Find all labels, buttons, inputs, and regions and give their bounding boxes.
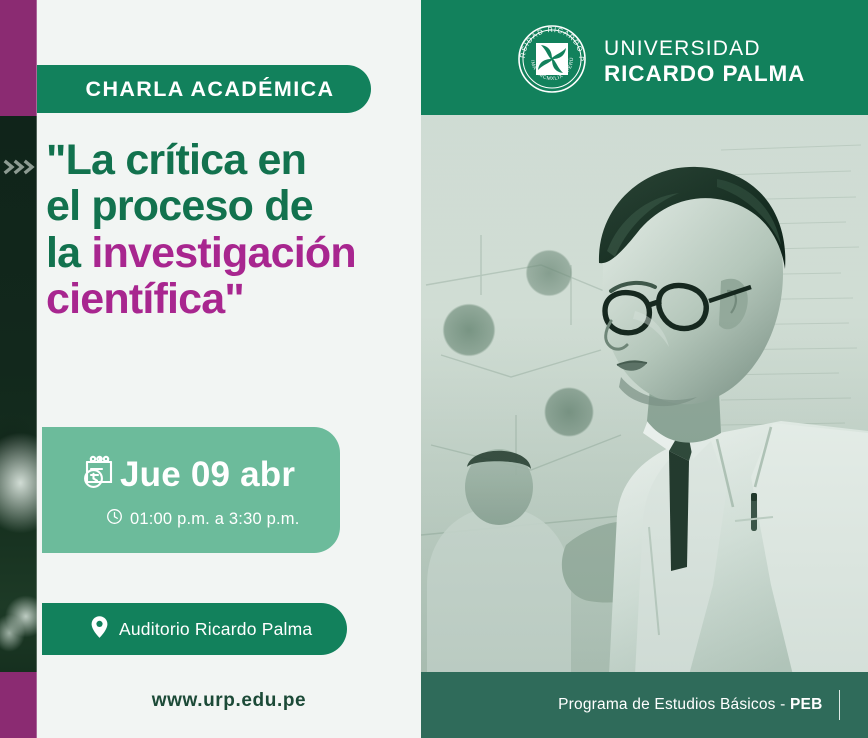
location-pin-icon (90, 615, 109, 644)
university-header-band: UNIVERSIDAD RICARDO PALMA LIMA - MCMXLIX… (421, 0, 868, 115)
university-seal-icon: UNIVERSIDAD RICARDO PALMA LIMA - MCMXLIX… (516, 23, 588, 100)
clock-icon (106, 508, 123, 530)
edge-accent-bottom (0, 672, 37, 738)
university-name-line-2: RICARDO PALMA (604, 61, 805, 86)
left-content-panel: CHARLA ACADÉMICA "La crítica en el proce… (37, 0, 421, 738)
badge-label: CHARLA ACADÉMICA (86, 77, 335, 102)
event-venue-pill: Auditorio Ricardo Palma (42, 603, 347, 655)
university-brand: UNIVERSIDAD RICARDO PALMA LIMA - MCMXLIX… (516, 23, 805, 100)
university-name-line-1: UNIVERSIDAD (604, 37, 805, 61)
headline-line-3-prefix: la (46, 229, 91, 277)
calendar-clock-icon (78, 449, 122, 498)
lab-coat (609, 421, 868, 672)
event-poster: CHARLA ACADÉMICA "La crítica en el proce… (0, 0, 868, 738)
event-time-label: 01:00 p.m. a 3:30 p.m. (130, 510, 300, 529)
speaker-figure (421, 115, 868, 672)
speaker-photograph (421, 115, 868, 672)
headline-line-2: el proceso de (46, 183, 421, 229)
edge-divider (36, 0, 37, 738)
right-photo-column: UNIVERSIDAD RICARDO PALMA LIMA - MCMXLIX… (421, 0, 868, 738)
venue-label: Auditorio Ricardo Palma (119, 619, 312, 640)
university-name: UNIVERSIDAD RICARDO PALMA (604, 37, 805, 86)
edge-accent-top (0, 0, 37, 116)
background-seated-figure (427, 449, 571, 672)
charla-academica-badge: CHARLA ACADÉMICA (37, 65, 371, 113)
pocket-pen (751, 493, 757, 531)
left-edge-strip (0, 0, 37, 738)
edge-photo-strip (0, 116, 37, 672)
headline-line-4: científica" (46, 276, 421, 322)
headline-line-1: "La crítica en (46, 137, 421, 183)
headline-line-3: la investigación (46, 230, 421, 276)
footer-divider (839, 690, 841, 720)
headline-line-3-emphasis: investigación (91, 229, 355, 277)
head (599, 167, 785, 406)
program-footer-band: Programa de Estudios Básicos - PEB (421, 672, 868, 738)
time-row: 01:00 p.m. a 3:30 p.m. (106, 508, 340, 530)
event-date-card: Jue 09 abr 01:00 p.m. a 3:30 p.m. (42, 427, 340, 553)
program-acronym: PEB (790, 696, 822, 713)
website-url[interactable]: www.urp.edu.pe (37, 690, 421, 712)
chevrons-right-icon (3, 157, 37, 177)
date-row: Jue 09 abr (78, 449, 340, 500)
event-date-label: Jue 09 abr (120, 455, 295, 495)
program-text: Programa de Estudios Básicos - (558, 696, 790, 713)
page-title: "La crítica en el proceso de la investig… (46, 137, 421, 323)
program-label: Programa de Estudios Básicos - PEB (558, 696, 822, 714)
